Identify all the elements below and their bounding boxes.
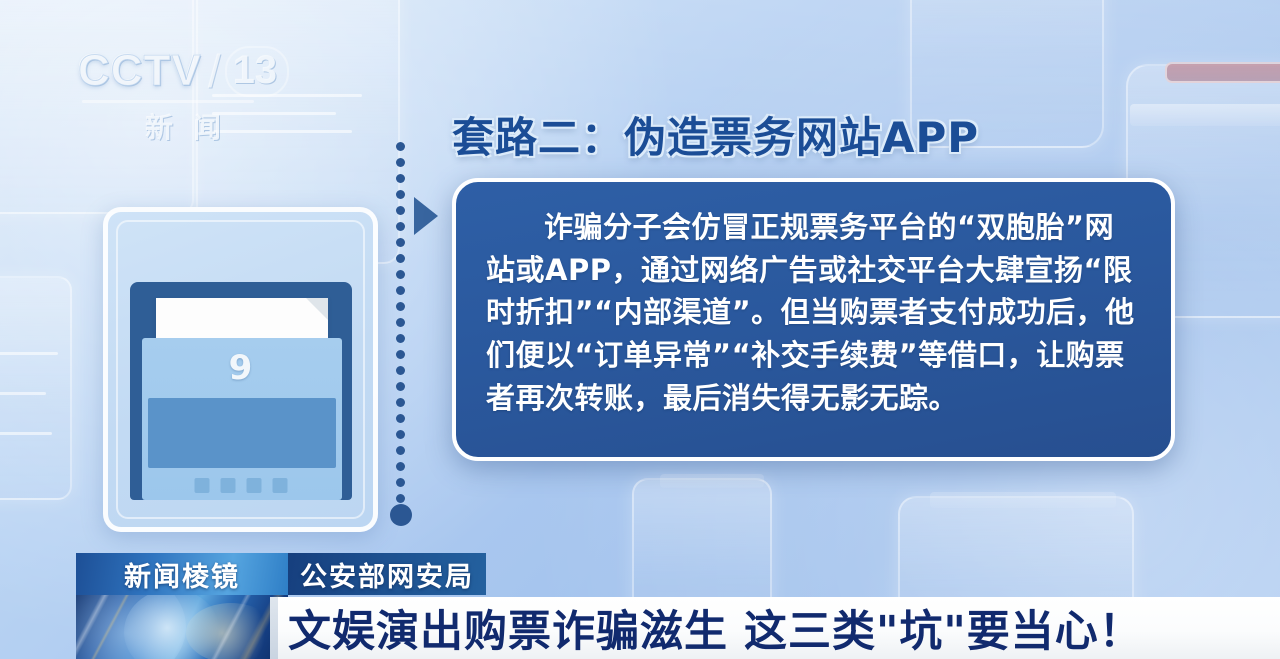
connector-dot xyxy=(396,254,405,263)
background-ghost-line-3 xyxy=(212,130,352,133)
connector-dot xyxy=(396,478,405,487)
background-ghost-line-1 xyxy=(212,94,362,97)
connector-dot xyxy=(396,462,405,471)
connector-dot xyxy=(396,206,405,215)
background-ghost-card-bottomleft xyxy=(0,276,72,500)
lower-third-banner: 新闻棱镜 公安部网安局 文娱演出购票诈骗滋生 这三类"坑"要当心！ xyxy=(0,555,1280,659)
arrow-right-icon xyxy=(414,197,438,235)
folder-dot xyxy=(194,478,209,493)
background-ghost-accent-topright xyxy=(1165,62,1280,83)
connector-dot xyxy=(396,366,405,375)
background-ghost-band-bottomright xyxy=(930,492,1116,508)
section-kicker-title: 套路二：伪造票务网站APP xyxy=(452,104,979,165)
connector-dot xyxy=(396,334,405,343)
connector-dot xyxy=(396,382,405,391)
folder-dot xyxy=(272,478,287,493)
connector-dot xyxy=(396,302,405,311)
headline-bar: 文娱演出购票诈骗滋生 这三类"坑"要当心！ xyxy=(278,597,1280,659)
connector-dot xyxy=(396,414,405,423)
folder-dot-row xyxy=(194,478,287,493)
connector-dot xyxy=(396,350,405,359)
background-ghost-card-left xyxy=(0,0,194,214)
background-ghost-line-2 xyxy=(212,112,336,115)
background-ghost-line-4 xyxy=(0,352,58,355)
folder-content-panel xyxy=(148,398,336,468)
dotted-connector-line xyxy=(395,142,407,522)
source-name-tag: 公安部网安局 xyxy=(288,553,486,595)
connector-dot xyxy=(396,430,405,439)
program-name-tag: 新闻棱镜 xyxy=(76,553,288,595)
connector-dot xyxy=(396,270,405,279)
connector-dot xyxy=(396,158,405,167)
connector-dot xyxy=(396,142,405,151)
connector-dot xyxy=(396,222,405,231)
folder-dot xyxy=(246,478,261,493)
folder-badge-glyph: 9 xyxy=(229,348,253,388)
description-panel: 诈骗分子会仿冒正规票务平台的“双胞胎”网站或APP，通过网络广告或社交平台大肆宣… xyxy=(452,178,1175,461)
connector-dot xyxy=(396,398,405,407)
folder-dot xyxy=(220,478,235,493)
connector-dot xyxy=(396,494,405,503)
background-ghost-band-topright xyxy=(1130,104,1280,126)
background-ghost-line-5 xyxy=(0,392,46,395)
news-globe-graphic xyxy=(76,595,288,659)
connector-dot xyxy=(396,174,405,183)
background-ghost-band-bottomcenter xyxy=(660,474,764,488)
connector-dot xyxy=(396,190,405,199)
connector-dot xyxy=(396,238,405,247)
main-headline: 文娱演出购票诈骗滋生 这三类"坑"要当心！ xyxy=(288,597,1143,659)
lower-third-tag-row: 新闻棱镜 公安部网安局 xyxy=(76,553,486,595)
broadcast-screenshot: CCTV / 13 新闻 9 xyxy=(0,0,1280,659)
description-text: 诈骗分子会仿冒正规票务平台的“双胞胎”网站或APP，通过网络广告或社交平台大肆宣… xyxy=(486,206,1141,419)
connector-dot xyxy=(396,318,405,327)
background-ghost-line-6 xyxy=(0,432,52,435)
connector-end-cap xyxy=(390,504,412,526)
connector-dot xyxy=(396,446,405,455)
folder-illustration: 9 xyxy=(103,207,378,532)
connector-dot xyxy=(396,286,405,295)
